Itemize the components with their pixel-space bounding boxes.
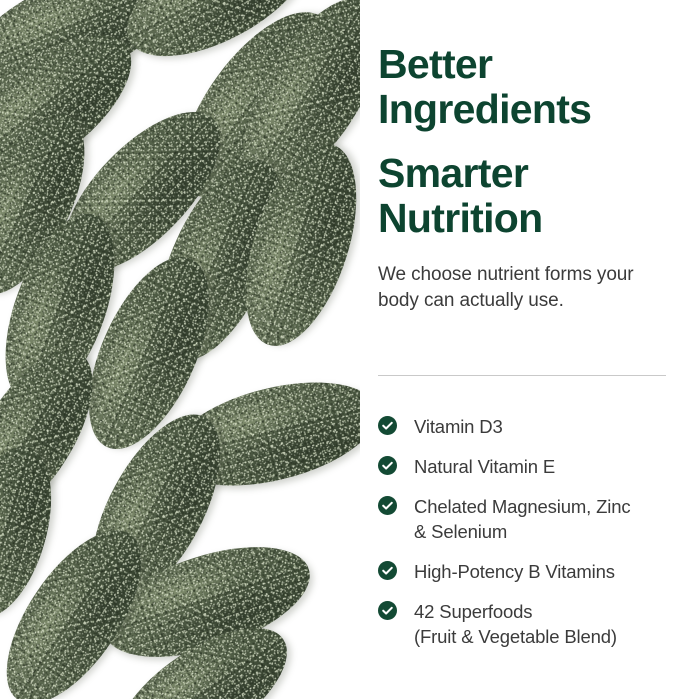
page-title-secondary: SmarterNutrition	[378, 151, 670, 241]
feature-list-item: High-Potency B Vitamins	[378, 559, 670, 584]
feature-label: Vitamin D3	[414, 414, 503, 439]
check-circle-icon	[378, 416, 397, 435]
feature-label: High-Potency B Vitamins	[414, 559, 615, 584]
headline-line-4: Nutrition	[378, 195, 543, 241]
section-divider	[378, 375, 666, 376]
check-circle-icon	[378, 456, 397, 475]
content-column: BetterIngredients SmarterNutrition We ch…	[378, 0, 670, 699]
feature-list-item: Natural Vitamin E	[378, 454, 670, 479]
feature-list-item: Vitamin D3	[378, 414, 670, 439]
headline-line-1: Better	[378, 41, 492, 87]
headline-line-2: Ingredients	[378, 86, 591, 132]
promo-banner: BetterIngredients SmarterNutrition We ch…	[0, 0, 679, 699]
feature-label: 42 Superfoods (Fruit & Vegetable Blend)	[414, 599, 617, 649]
feature-list-item: 42 Superfoods (Fruit & Vegetable Blend)	[378, 599, 670, 649]
subtitle-text: We choose nutrient forms your body can a…	[378, 262, 666, 314]
page-title-primary: BetterIngredients	[378, 42, 670, 132]
green-tablet-pills-photo	[0, 0, 360, 699]
headline-group: BetterIngredients SmarterNutrition	[378, 42, 670, 241]
feature-label: Chelated Magnesium, Zinc & Selenium	[414, 494, 630, 544]
feature-list: Vitamin D3Natural Vitamin EChelated Magn…	[378, 414, 670, 649]
feature-list-item: Chelated Magnesium, Zinc & Selenium	[378, 494, 670, 544]
feature-label: Natural Vitamin E	[414, 454, 555, 479]
headline-line-3: Smarter	[378, 150, 528, 196]
check-circle-icon	[378, 496, 397, 515]
check-circle-icon	[378, 601, 397, 620]
check-circle-icon	[378, 561, 397, 580]
